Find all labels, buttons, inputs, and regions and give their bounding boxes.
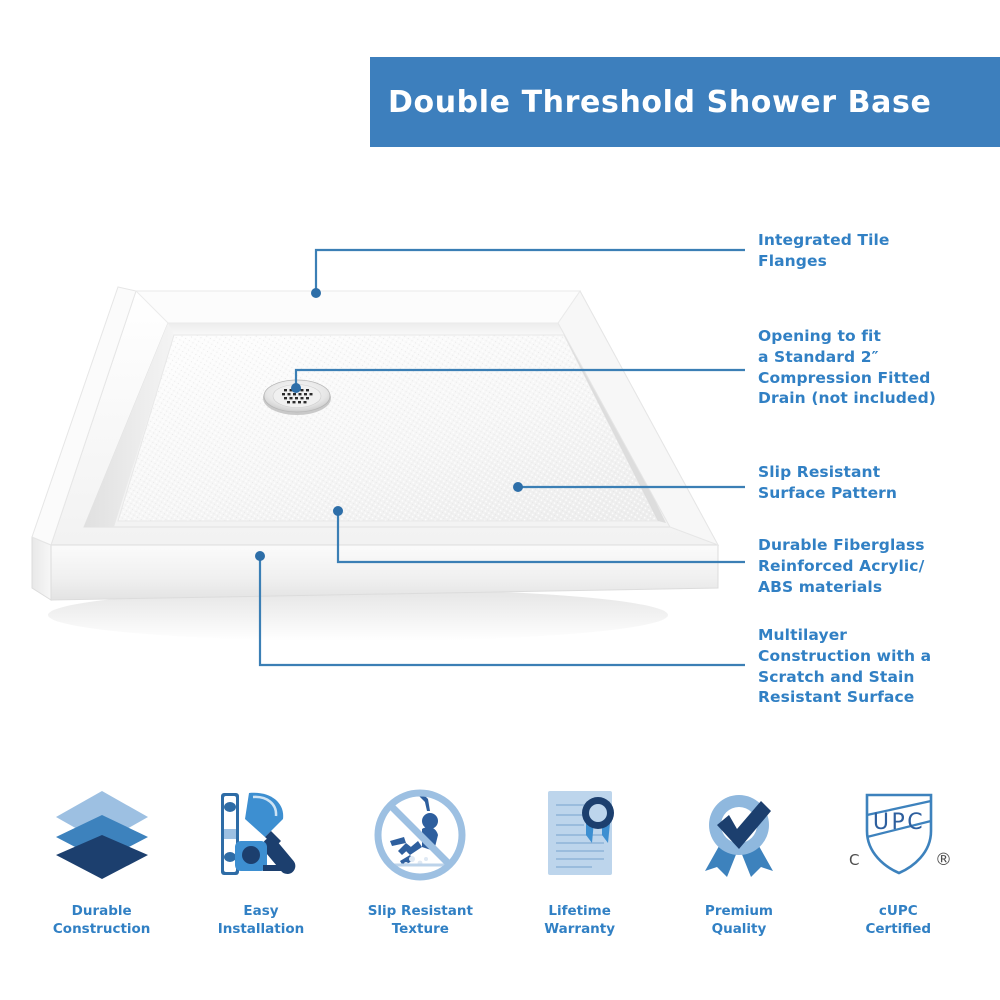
upc-shield-icon: UPC C ® (839, 775, 957, 895)
basin-back-wall (168, 323, 564, 335)
callout-line: a Standard 2″ (758, 347, 936, 368)
upc-left-mark: C (849, 851, 859, 869)
feature-label-line: Premium (705, 903, 773, 921)
no-slip-icon (368, 775, 472, 895)
feature-premium-quality: Premium Quality (664, 775, 814, 938)
callout-line: Reinforced Acrylic/ (758, 556, 925, 577)
drain (263, 380, 331, 415)
callout-line: Slip Resistant (758, 462, 897, 483)
callout-line: Scratch and Stain (758, 667, 931, 688)
feature-strip: Durable Construction (0, 775, 1000, 975)
feature-label-line: Lifetime (544, 903, 615, 921)
title-banner: Double Threshold Shower Base (370, 57, 1000, 147)
feature-label-line: Quality (705, 921, 773, 939)
callout-drain-opening: Opening to fit a Standard 2″ Compression… (758, 326, 936, 409)
callout-line: Surface Pattern (758, 483, 897, 504)
callout-line: Opening to fit (758, 326, 936, 347)
base-front-face (51, 545, 718, 600)
callout-line: Compression Fitted (758, 368, 936, 389)
feature-label: Premium Quality (705, 903, 773, 938)
slip-resistant-texture (118, 335, 658, 521)
feature-durable-construction: Durable Construction (27, 775, 177, 938)
callout-multilayer-construction: Multilayer Construction with a Scratch a… (758, 625, 931, 708)
feature-label-line: Construction (53, 921, 151, 939)
feature-label-line: cUPC (865, 903, 931, 921)
infographic-page: Double Threshold Shower Base (0, 0, 1000, 1000)
callout-line: Durable Fiberglass (758, 535, 925, 556)
feature-lifetime-warranty: Lifetime Warranty (505, 775, 655, 938)
upc-right-mark: ® (935, 850, 952, 870)
callout-integrated-tile-flanges: Integrated Tile Flanges (758, 230, 890, 272)
tools-icon (209, 775, 313, 895)
callout-line: Drain (not included) (758, 388, 936, 409)
feature-cupc-certified: UPC C ® cUPC Certified (823, 775, 973, 938)
ribbon-check-icon (687, 775, 791, 895)
callout-line: Multilayer (758, 625, 931, 646)
feature-slip-resistant-texture: Slip Resistant Texture (345, 775, 495, 938)
feature-label-line: Easy (218, 903, 305, 921)
callout-line: Flanges (758, 251, 890, 272)
layers-icon (50, 775, 154, 895)
callout-line: ABS materials (758, 577, 925, 598)
feature-label: Durable Construction (53, 903, 151, 938)
feature-label: Lifetime Warranty (544, 903, 615, 938)
feature-label-line: Slip Resistant (368, 903, 473, 921)
feature-label-line: Warranty (544, 921, 615, 939)
feature-label: cUPC Certified (865, 903, 931, 938)
callout-line: Integrated Tile (758, 230, 890, 251)
feature-label: Easy Installation (218, 903, 305, 938)
certificate-icon (528, 775, 632, 895)
base-back-rim (136, 291, 580, 323)
callout-line: Construction with a (758, 646, 931, 667)
product-illustration (18, 255, 738, 645)
feature-label: Slip Resistant Texture (368, 903, 473, 938)
feature-easy-installation: Easy Installation (186, 775, 336, 938)
page-title: Double Threshold Shower Base (370, 85, 931, 120)
feature-label-line: Installation (218, 921, 305, 939)
feature-label-line: Texture (368, 921, 473, 939)
upc-shield-text: UPC (873, 810, 925, 835)
feature-label-line: Certified (865, 921, 931, 939)
callout-durable-fiberglass: Durable Fiberglass Reinforced Acrylic/ A… (758, 535, 925, 597)
callout-line: Resistant Surface (758, 687, 931, 708)
callout-slip-resistant-surface: Slip Resistant Surface Pattern (758, 462, 897, 504)
feature-label-line: Durable (53, 903, 151, 921)
base-left-face (32, 537, 51, 600)
